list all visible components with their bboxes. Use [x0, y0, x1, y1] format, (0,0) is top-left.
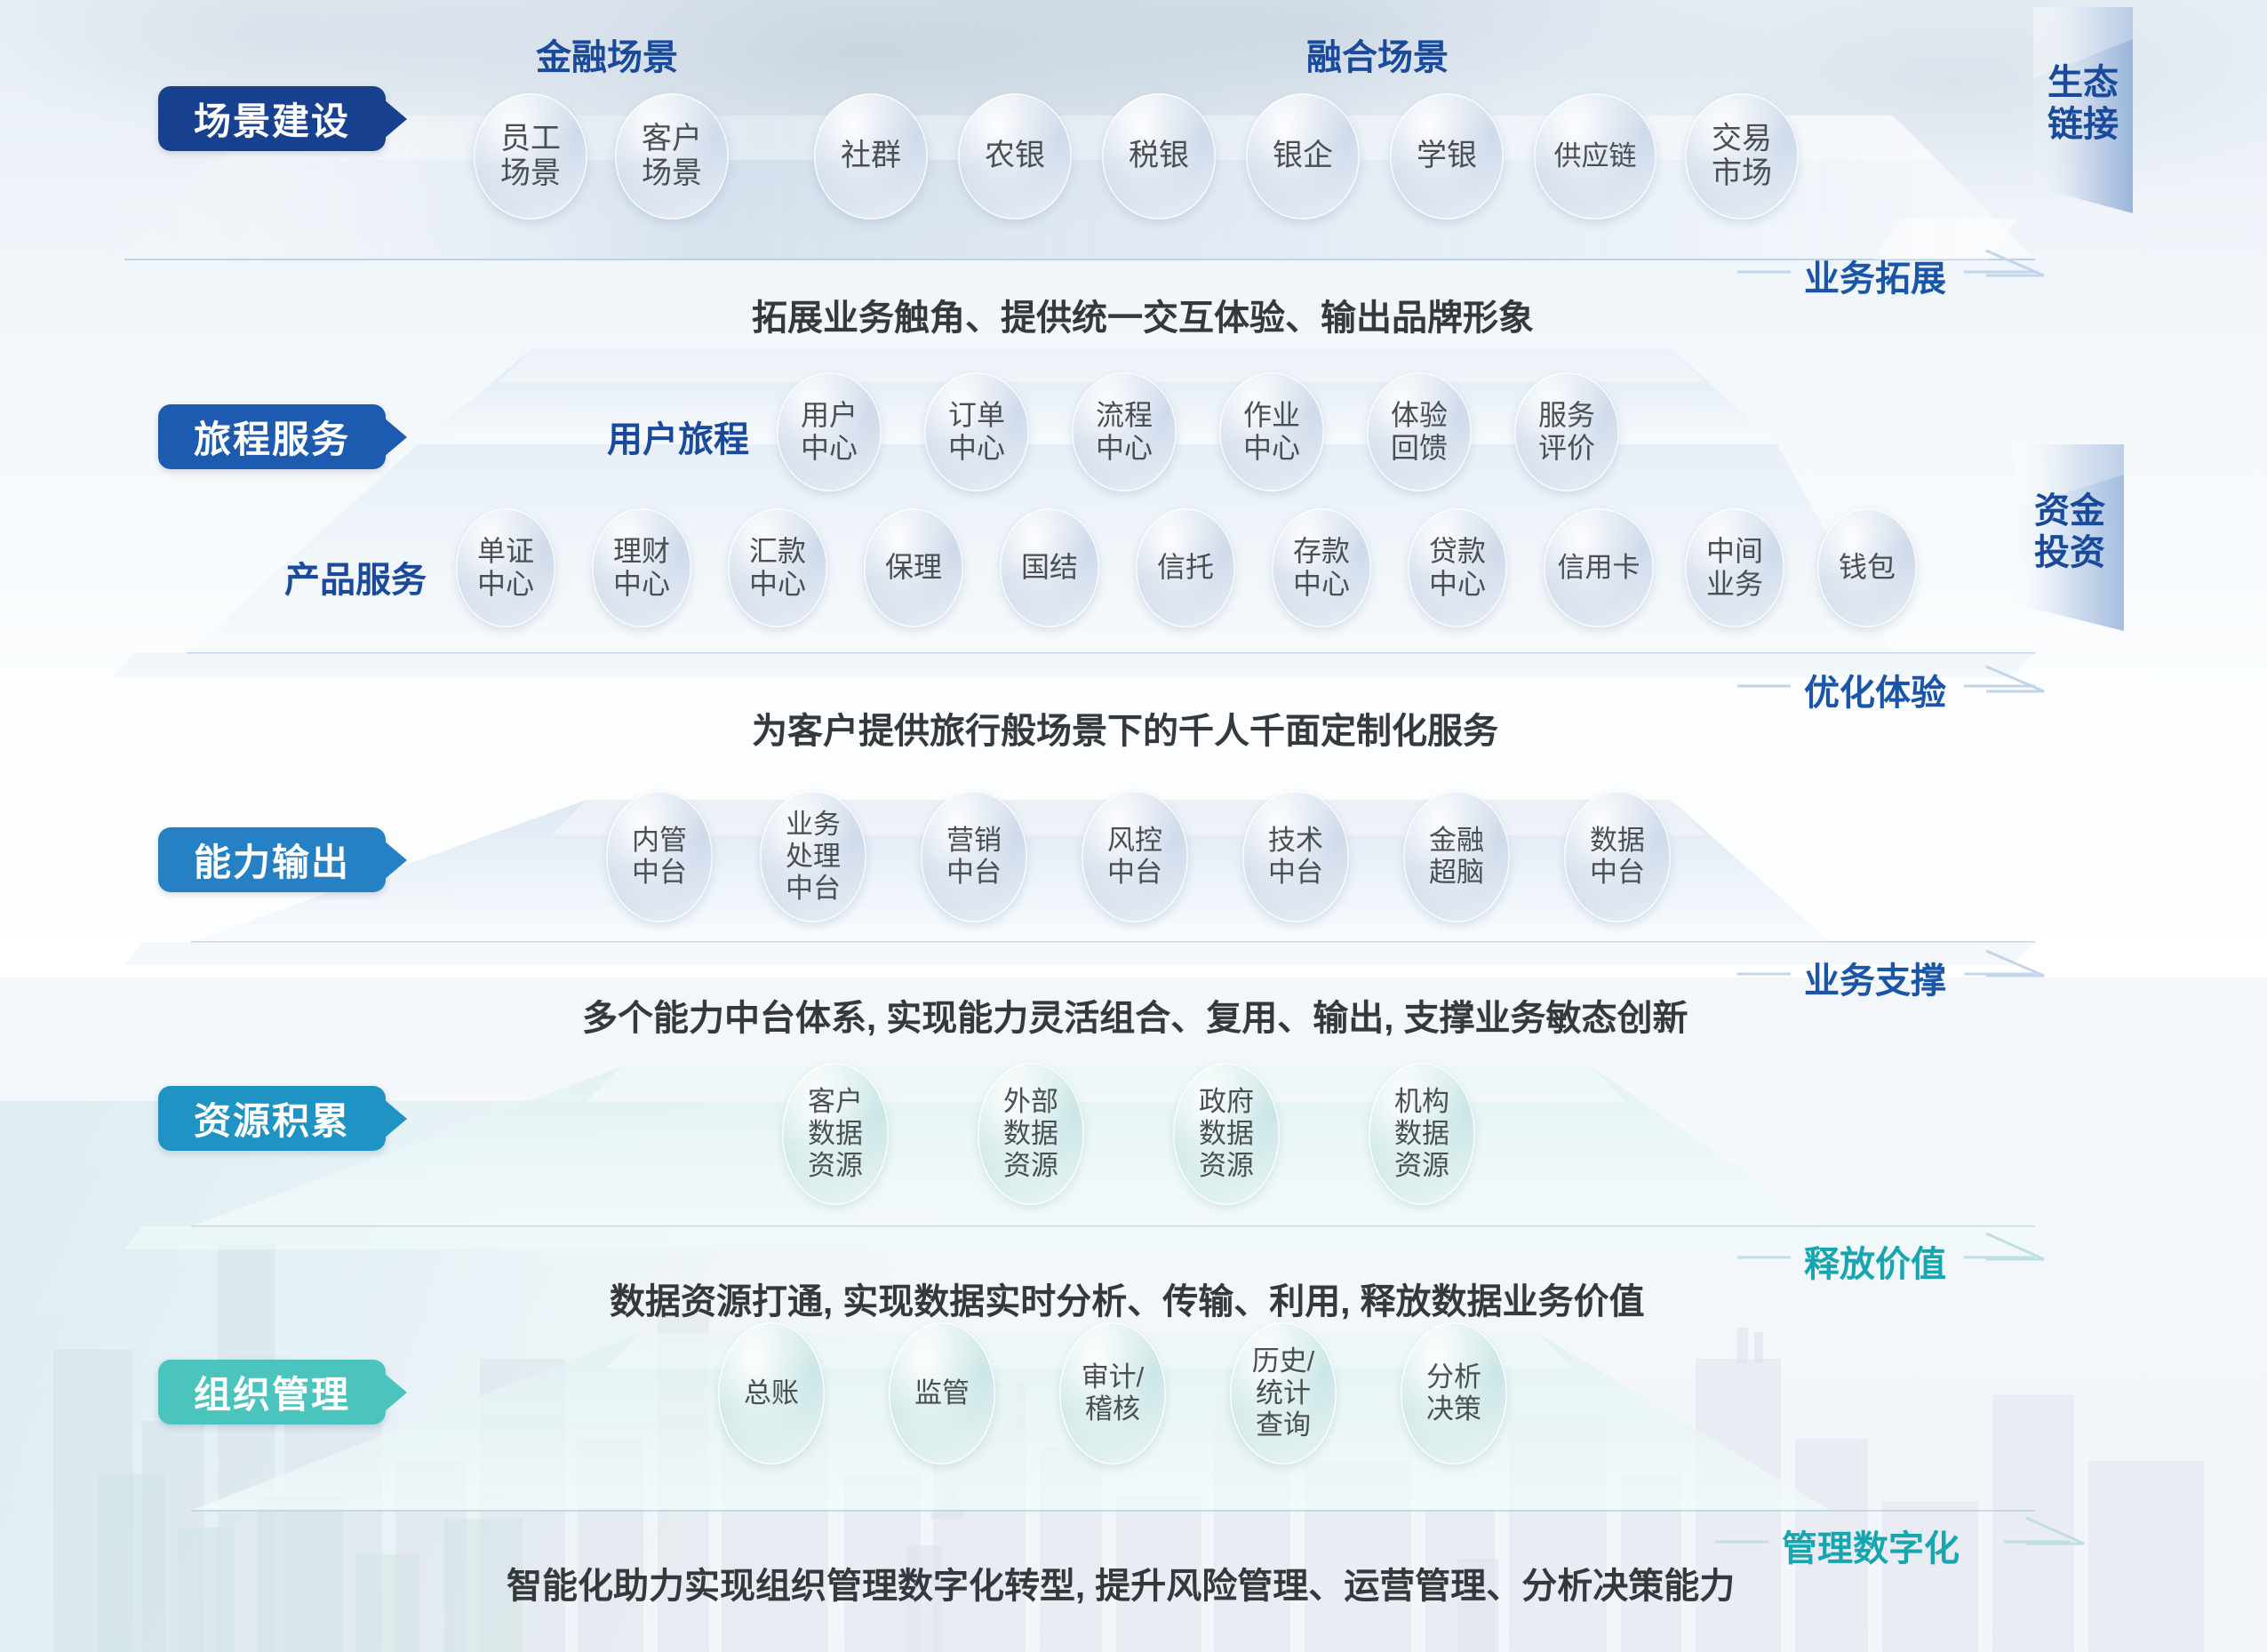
stage-word-business-expansion: 业务拓展	[1804, 250, 1946, 301]
side-chevron-label: 生态 链接	[2033, 62, 2133, 146]
node-line: 数据	[808, 1118, 863, 1150]
node-line: 总账	[744, 1377, 799, 1409]
node-user-center[interactable]: 用户 中心	[777, 372, 882, 491]
side-chevron-line: 资金	[2034, 491, 2105, 531]
node-line: 数据	[1003, 1118, 1058, 1150]
side-chevron-line: 链接	[2047, 105, 2119, 144]
node-audit-inspection[interactable]: 审计/ 稽核	[1059, 1322, 1166, 1464]
node-line: 回馈	[1391, 432, 1448, 465]
node-line: 贷款	[1429, 535, 1486, 568]
node-line: 客户	[642, 122, 702, 156]
node-line: 学银	[1417, 139, 1477, 173]
node-history-statistics-query[interactable]: 历史/ 统计 查询	[1230, 1322, 1337, 1464]
node-line: 中心	[801, 432, 858, 465]
tier-pill-label: 场景建设	[194, 92, 350, 146]
node-trust[interactable]: 信托	[1136, 508, 1235, 627]
node-line: 数据	[1394, 1118, 1449, 1150]
node-line: 客户	[808, 1086, 863, 1118]
node-customer-scene[interactable]: 客户 场景	[615, 93, 729, 219]
side-chevron-eco-link: 生态 链接	[2033, 7, 2133, 213]
node-line: 中心	[948, 432, 1005, 465]
node-external-data-resource[interactable]: 外部 数据 资源	[978, 1063, 1084, 1205]
node-line: 决策	[1426, 1393, 1481, 1425]
node-line: 银企	[1273, 139, 1333, 173]
node-line: 中台	[786, 873, 841, 905]
node-line: 市场	[1712, 156, 1772, 191]
stage-word-release-value: 释放价值	[1804, 1235, 1946, 1287]
tier-pill-resource-accumulation[interactable]: 资源积累	[158, 1086, 386, 1151]
node-line: 评价	[1538, 432, 1595, 465]
node-line: 机构	[1394, 1086, 1449, 1118]
tier-description-organization-management: 智能化助力实现组织管理数字化转型, 提升风险管理、运营管理、分析决策能力	[507, 1557, 1735, 1608]
side-chevron-label: 资金 投资	[2016, 491, 2124, 574]
node-bank-enterprise[interactable]: 银企	[1246, 93, 1360, 219]
node-credit-card[interactable]: 信用卡	[1544, 508, 1654, 627]
node-line: 汇款	[749, 535, 806, 568]
node-line: 资源	[1199, 1150, 1254, 1182]
node-customer-data-resource[interactable]: 客户 数据 资源	[782, 1063, 889, 1205]
node-line: 风控	[1107, 825, 1162, 857]
node-line: 超脑	[1429, 857, 1484, 889]
node-line: 国结	[1021, 551, 1078, 584]
node-line: 业务	[1706, 568, 1763, 601]
node-line: 订单	[948, 399, 1005, 432]
node-line: 监管	[914, 1377, 970, 1409]
node-line: 历史/	[1252, 1345, 1315, 1377]
node-line: 中台	[1268, 857, 1323, 889]
node-factoring[interactable]: 保理	[864, 508, 963, 627]
node-line: 员工	[500, 122, 561, 156]
node-financial-brain[interactable]: 金融 超脑	[1403, 791, 1510, 922]
node-line: 信用卡	[1558, 552, 1640, 584]
node-line: 外部	[1003, 1086, 1058, 1118]
node-line: 体验	[1391, 399, 1448, 432]
node-deposit-center[interactable]: 存款 中心	[1272, 508, 1371, 627]
tier-description-capability-output: 多个能力中台体系, 实现能力灵活组合、复用、输出, 支撑业务敏态创新	[582, 989, 1688, 1041]
node-line: 中台	[946, 857, 1002, 889]
tier-pill-organization-management[interactable]: 组织管理	[158, 1360, 386, 1425]
node-line: 用户	[801, 399, 858, 432]
node-institution-data-resource[interactable]: 机构 数据 资源	[1369, 1063, 1475, 1205]
tier-description-resource-accumulation: 数据资源打通, 实现数据实时分析、传输、利用, 释放数据业务价值	[610, 1273, 1644, 1324]
side-chevron-line: 投资	[2034, 533, 2105, 572]
node-general-ledger[interactable]: 总账	[718, 1322, 825, 1464]
group-label-financial-scene: 金融场景	[536, 28, 678, 80]
tier-pill-label: 能力输出	[194, 833, 350, 887]
group-label-product-service: 产品服务	[284, 551, 427, 603]
group-label-fusion-scene: 融合场景	[1306, 28, 1449, 80]
node-community[interactable]: 社群	[814, 93, 928, 219]
node-trading-market[interactable]: 交易 市场	[1685, 93, 1799, 219]
node-line: 金融	[1429, 825, 1484, 857]
node-line: 信托	[1157, 551, 1214, 584]
node-process-center[interactable]: 流程 中心	[1072, 372, 1177, 491]
node-line: 数据	[1199, 1118, 1254, 1150]
node-internal-mgmt-platform[interactable]: 内管 中台	[606, 791, 713, 922]
node-line: 资源	[1394, 1150, 1449, 1182]
node-line: 业务	[786, 809, 841, 841]
node-data-platform[interactable]: 数据 中台	[1564, 791, 1671, 922]
side-chevron-line: 生态	[2047, 63, 2119, 102]
tier-pill-label: 旅程服务	[194, 410, 350, 464]
group-label-user-journey: 用户旅程	[607, 411, 749, 462]
node-technology-platform[interactable]: 技术 中台	[1242, 791, 1349, 922]
node-supply-chain[interactable]: 供应链	[1534, 93, 1656, 219]
node-line: 社群	[841, 139, 901, 173]
node-line: 中心	[613, 568, 670, 601]
stage-word-management-digitalization: 管理数字化	[1782, 1520, 1960, 1571]
node-order-center[interactable]: 订单 中心	[924, 372, 1029, 491]
node-line: 处理	[786, 841, 841, 873]
node-experience-feedback[interactable]: 体验 回馈	[1367, 372, 1472, 491]
node-line: 理财	[613, 535, 670, 568]
tier-description-scene-construction: 拓展业务触角、提供统一交互体验、输出品牌形象	[752, 289, 1534, 340]
node-remittance-center[interactable]: 汇款 中心	[728, 508, 827, 627]
node-line: 中心	[477, 568, 534, 601]
node-international-settlement[interactable]: 国结	[1000, 508, 1099, 627]
node-operation-center[interactable]: 作业 中心	[1219, 372, 1324, 491]
side-chevron-fund-invest: 资金 投资	[2016, 444, 2124, 631]
node-tax-bank[interactable]: 税银	[1102, 93, 1216, 219]
node-line: 交易	[1712, 122, 1772, 156]
node-line: 营销	[946, 825, 1002, 857]
node-supervision[interactable]: 监管	[889, 1322, 995, 1464]
node-line: 钱包	[1839, 551, 1896, 584]
node-school-bank[interactable]: 学银	[1390, 93, 1504, 219]
node-line: 中心	[1429, 568, 1486, 601]
node-line: 中间	[1706, 535, 1763, 568]
node-loan-center[interactable]: 贷款 中心	[1408, 508, 1507, 627]
node-line: 统计	[1256, 1377, 1311, 1409]
node-analysis-decision[interactable]: 分析 决策	[1401, 1322, 1507, 1464]
node-risk-control-platform[interactable]: 风控 中台	[1082, 791, 1188, 922]
node-line: 中台	[1590, 857, 1645, 889]
tier-pill-label: 组织管理	[194, 1365, 350, 1419]
node-line: 供应链	[1554, 140, 1637, 172]
node-document-center[interactable]: 单证 中心	[456, 508, 555, 627]
node-employee-scene[interactable]: 员工 场景	[474, 93, 587, 219]
node-line: 中心	[1293, 568, 1350, 601]
node-line: 场景	[500, 156, 561, 191]
node-line: 资源	[808, 1150, 863, 1182]
stage-word-optimize-experience: 优化体验	[1804, 664, 1946, 715]
node-service-rating[interactable]: 服务 评价	[1514, 372, 1619, 491]
node-wealth-center[interactable]: 理财 中心	[592, 508, 691, 627]
node-wallet[interactable]: 钱包	[1817, 508, 1917, 627]
node-line: 场景	[642, 156, 702, 191]
node-marketing-platform[interactable]: 营销 中台	[921, 791, 1027, 922]
node-line: 税银	[1129, 139, 1189, 173]
node-line: 流程	[1096, 399, 1153, 432]
node-line: 稽核	[1085, 1393, 1140, 1425]
node-line: 单证	[477, 535, 534, 568]
node-line: 技术	[1268, 825, 1323, 857]
tier-pill-scene-construction[interactable]: 场景建设	[158, 86, 386, 151]
node-line: 资源	[1003, 1150, 1058, 1182]
stage-word-business-support: 业务支撑	[1804, 952, 1946, 1003]
node-line: 分析	[1426, 1361, 1481, 1393]
tier-pill-journey-service[interactable]: 旅程服务	[158, 404, 386, 469]
tier-pill-capability-output[interactable]: 能力输出	[158, 827, 386, 892]
node-line: 中台	[1107, 857, 1162, 889]
node-line: 内管	[632, 825, 687, 857]
node-line: 中心	[749, 568, 806, 601]
node-line: 中台	[632, 857, 687, 889]
node-line: 中心	[1243, 432, 1300, 465]
node-government-data-resource[interactable]: 政府 数据 资源	[1173, 1063, 1280, 1205]
node-line: 保理	[885, 551, 942, 584]
node-line: 审计/	[1082, 1361, 1145, 1393]
node-line: 作业	[1243, 399, 1300, 432]
node-intermediary-business[interactable]: 中间 业务	[1685, 508, 1784, 627]
node-line: 农银	[985, 139, 1045, 173]
node-line: 政府	[1199, 1086, 1254, 1118]
node-line: 存款	[1293, 535, 1350, 568]
node-line: 数据	[1590, 825, 1645, 857]
node-business-processing-platform[interactable]: 业务 处理 中台	[760, 791, 866, 922]
node-line: 查询	[1256, 1409, 1311, 1441]
tier-description-journey-service: 为客户提供旅行般场景下的千人千面定制化服务	[752, 702, 1498, 754]
tier-pill-label: 资源积累	[194, 1091, 350, 1145]
node-line: 中心	[1096, 432, 1153, 465]
node-line: 服务	[1538, 399, 1595, 432]
node-agri-bank[interactable]: 农银	[958, 93, 1072, 219]
